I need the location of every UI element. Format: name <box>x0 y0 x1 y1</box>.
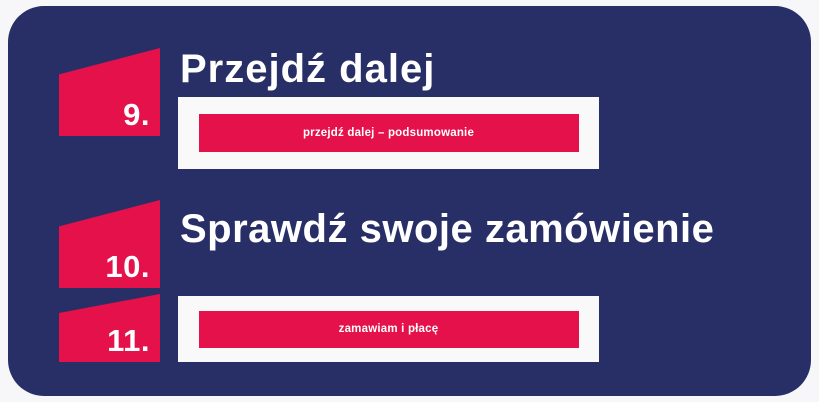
step-number-badge-11: 11. <box>59 294 160 362</box>
button-panel-przejdz-dalej: przejdź dalej – podsumowanie <box>178 97 599 169</box>
zamawiam-i-place-button[interactable]: zamawiam i płacę <box>199 311 579 348</box>
button-panel-zamawiam-i-place: zamawiam i płacę <box>178 296 599 362</box>
step-number-label: 11. <box>107 325 150 356</box>
step-number-badge-9: 9. <box>59 48 160 136</box>
step-number-badge-10: 10. <box>59 200 160 288</box>
step-heading-sprawdz-zamowienie: Sprawdź swoje zamówienie <box>180 209 714 249</box>
instruction-card: 9. Przejdź dalej przejdź dalej – podsumo… <box>8 6 811 396</box>
step-heading-przejdz-dalej: Przejdź dalej <box>180 49 435 89</box>
step-number-label: 9. <box>123 99 150 130</box>
przejdz-dalej-button[interactable]: przejdź dalej – podsumowanie <box>199 114 579 152</box>
step-number-label: 10. <box>105 251 150 282</box>
